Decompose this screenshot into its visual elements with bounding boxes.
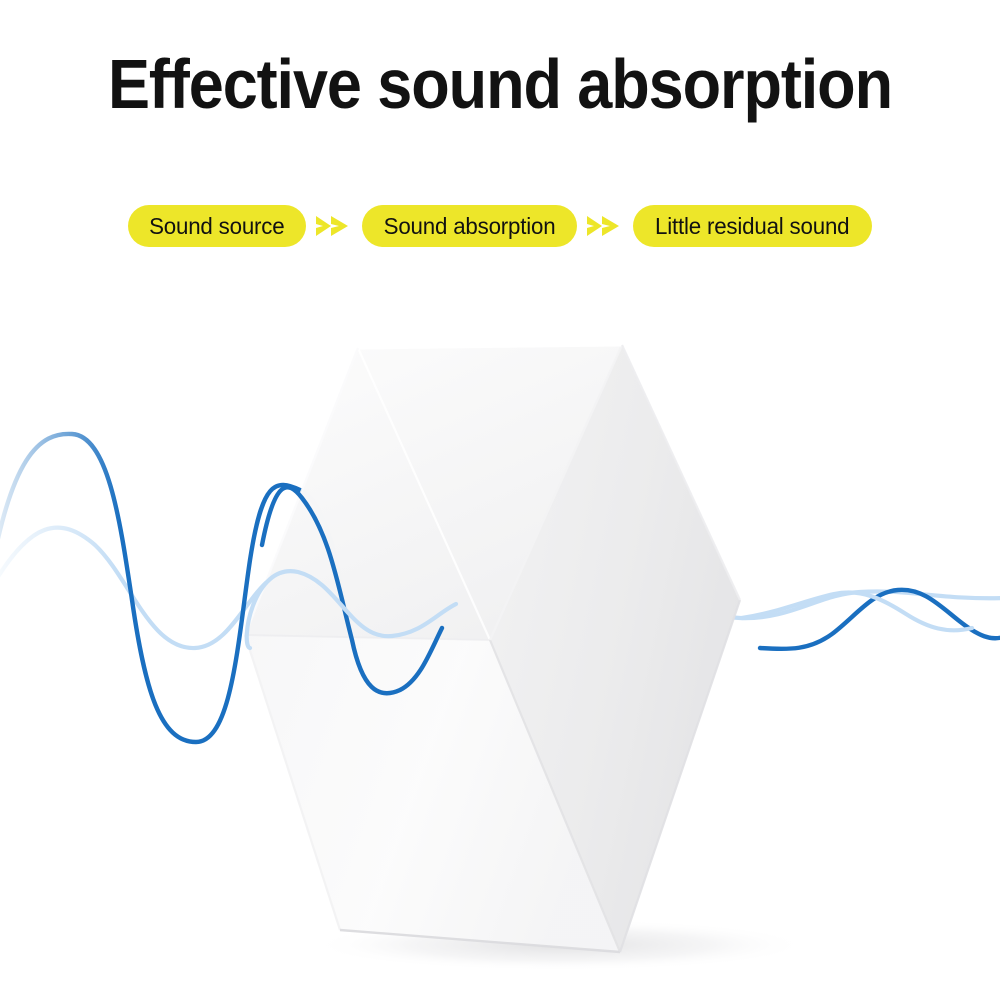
flow-step-label: Sound source [150,213,285,240]
flow-step-sound-source[interactable]: Sound source [128,205,306,247]
flow-step-label: Little residual sound [655,213,849,240]
double-chevron-right-icon [306,205,362,247]
double-chevron-right-icon [577,205,633,247]
flow-step-sound-absorption[interactable]: Sound absorption [362,205,577,247]
marketing-image: Effective sound absorption Sound source … [0,0,1000,1000]
product-scene [0,0,1000,1000]
flow-step-little-residual-sound[interactable]: Little residual sound [633,205,871,247]
hexagonal-acoustic-panel [245,345,740,952]
flow-step-label: Sound absorption [384,213,556,240]
page-title: Effective sound absorption [50,47,950,121]
process-flow: Sound source Sound absorption Little res… [0,203,1000,249]
